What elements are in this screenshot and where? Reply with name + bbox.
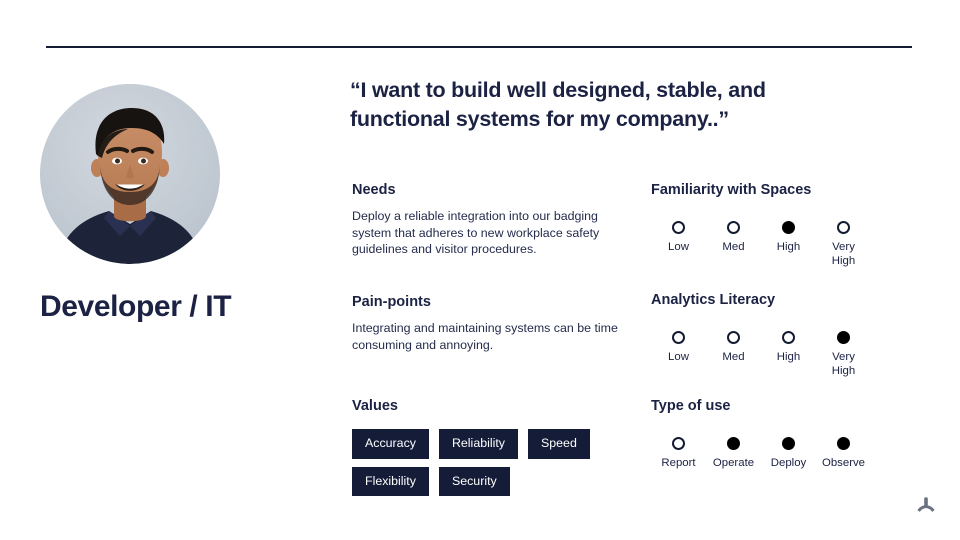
- radio-dot-selected-icon[interactable]: [782, 437, 795, 450]
- radio-option[interactable]: Deploy: [761, 437, 816, 470]
- value-tag[interactable]: Speed: [528, 429, 590, 458]
- radio-option[interactable]: Very High: [816, 221, 871, 268]
- pain-points-section: Pain-points Integrating and maintaining …: [352, 294, 622, 353]
- radio-option[interactable]: Very High: [816, 331, 871, 378]
- value-tag[interactable]: Reliability: [439, 429, 518, 458]
- needs-section: Needs Deploy a reliable integration into…: [352, 182, 622, 258]
- values-tag-list: AccuracyReliabilitySpeedFlexibilitySecur…: [352, 429, 622, 496]
- radio-option-label: Med: [722, 351, 744, 364]
- familiarity-options[interactable]: LowMedHighVery High: [651, 221, 891, 268]
- header-divider: [46, 46, 912, 48]
- radio-dot-icon[interactable]: [727, 331, 740, 344]
- radio-dot-selected-icon[interactable]: [727, 437, 740, 450]
- radio-dot-selected-icon[interactable]: [837, 437, 850, 450]
- needs-title: Needs: [352, 182, 622, 199]
- type-of-use-options[interactable]: ReportOperateDeployObserve: [651, 437, 891, 470]
- radio-option[interactable]: Observe: [816, 437, 871, 470]
- value-tag[interactable]: Accuracy: [352, 429, 429, 458]
- radio-option-label: High: [777, 241, 800, 254]
- familiarity-group: Familiarity with Spaces LowMedHighVery H…: [651, 182, 891, 268]
- radio-dot-selected-icon[interactable]: [837, 331, 850, 344]
- radio-dot-selected-icon[interactable]: [782, 221, 795, 234]
- radio-dot-icon[interactable]: [672, 331, 685, 344]
- values-title: Values: [352, 398, 622, 415]
- radio-option-label: Very High: [832, 241, 855, 268]
- pain-points-body: Integrating and maintaining systems can …: [352, 320, 622, 353]
- radio-option[interactable]: Med: [706, 331, 761, 378]
- radio-option[interactable]: Report: [651, 437, 706, 470]
- values-section: Values AccuracyReliabilitySpeedFlexibili…: [352, 398, 622, 504]
- page-title: Developer / IT: [40, 290, 320, 323]
- radio-option[interactable]: Operate: [706, 437, 761, 470]
- tripod-logo-mark: [915, 496, 937, 516]
- radio-option-label: Report: [661, 457, 695, 470]
- radio-dot-icon[interactable]: [672, 221, 685, 234]
- radio-option[interactable]: Low: [651, 331, 706, 378]
- radio-option-label: Low: [668, 351, 689, 364]
- pain-points-title: Pain-points: [352, 294, 622, 311]
- radio-option[interactable]: High: [761, 221, 816, 268]
- radio-option-label: Operate: [713, 457, 754, 470]
- analytics-options[interactable]: LowMedHighVery High: [651, 331, 891, 378]
- needs-body: Deploy a reliable integration into our b…: [352, 208, 622, 257]
- radio-dot-icon[interactable]: [837, 221, 850, 234]
- value-tag[interactable]: Flexibility: [352, 467, 429, 496]
- persona-quote: “I want to build well designed, stable, …: [350, 76, 850, 134]
- radio-dot-icon[interactable]: [727, 221, 740, 234]
- value-tag[interactable]: Security: [439, 467, 510, 496]
- analytics-title: Analytics Literacy: [651, 292, 891, 309]
- values-tag-row: FlexibilitySecurity: [352, 467, 622, 496]
- values-tag-row: AccuracyReliabilitySpeed: [352, 429, 622, 458]
- radio-option-label: Deploy: [771, 457, 806, 470]
- radio-option[interactable]: High: [761, 331, 816, 378]
- user-portrait-photo: [40, 84, 220, 264]
- analytics-group: Analytics Literacy LowMedHighVery High: [651, 292, 891, 378]
- familiarity-title: Familiarity with Spaces: [651, 182, 891, 199]
- radio-option-label: Low: [668, 241, 689, 254]
- avatar: [40, 84, 220, 264]
- radio-dot-icon[interactable]: [672, 437, 685, 450]
- radio-option-label: Med: [722, 241, 744, 254]
- radio-option-label: Observe: [822, 457, 865, 470]
- type-of-use-group: Type of use ReportOperateDeployObserve: [651, 398, 891, 471]
- radio-option-label: High: [777, 351, 800, 364]
- persona-column: Developer / IT: [40, 84, 320, 323]
- persona-slide: Developer / IT “I want to build well des…: [0, 0, 960, 540]
- radio-option-label: Very High: [832, 351, 855, 378]
- radio-option[interactable]: Low: [651, 221, 706, 268]
- radio-dot-icon[interactable]: [782, 331, 795, 344]
- type-of-use-title: Type of use: [651, 398, 891, 415]
- radio-option[interactable]: Med: [706, 221, 761, 268]
